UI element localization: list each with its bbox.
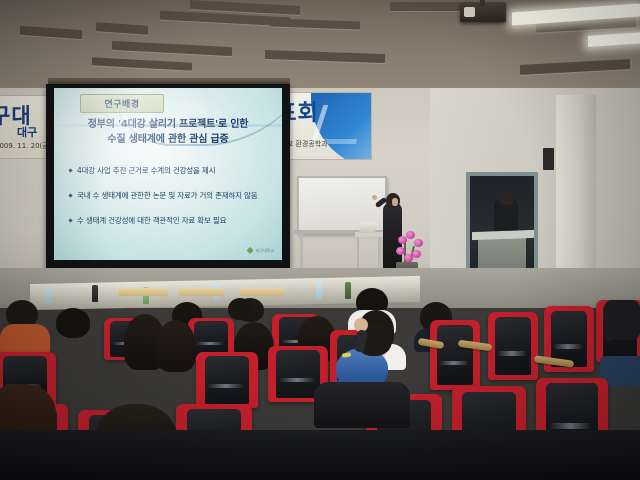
seat-highlight [553, 344, 583, 349]
seat-highlight [207, 384, 244, 388]
auditorium-seat[interactable] [488, 312, 538, 380]
water-bottle [316, 282, 322, 299]
orchid-bloom [404, 254, 413, 262]
audience-person [156, 320, 200, 378]
slide-title-line2: 수질 생태계에 관한 관심 급증 [62, 133, 274, 148]
ceiling-panel [265, 50, 385, 63]
projected-slide: 연구배경 정부의 '4대강 살리기 프로젝트'로 인한 수질 생태계에 관한 관… [54, 88, 282, 260]
slide-bullet-list: 4대강 사업 추진 근거로 수계의 건강성을 제시 국내 수 생태계에 관한한 … [68, 166, 276, 240]
orchid-bloom [412, 250, 421, 258]
person-head [156, 320, 196, 372]
projector-lens-icon [464, 7, 475, 17]
water-bottle [45, 286, 51, 303]
auditorium-seat[interactable] [430, 320, 480, 390]
seat-highlight [497, 351, 527, 356]
foreground-shadow [0, 430, 640, 480]
ceiling-panel [92, 57, 192, 70]
water-bottle [92, 285, 98, 302]
slide-title: 정부의 '4대강 살리기 프로젝트'로 인한 수질 생태계에 관한 관심 급증 [62, 118, 274, 147]
ceiling-panel [112, 41, 232, 56]
snack-tray [178, 288, 224, 296]
audience-person [228, 298, 254, 320]
water-bottle [345, 282, 351, 299]
presenter-face [392, 198, 398, 206]
moderator-head [499, 191, 514, 205]
audience-person [6, 300, 42, 340]
av-table-leg [357, 237, 359, 269]
person-shoulders [0, 324, 50, 354]
seat-pad [276, 350, 319, 398]
slide-bullet-3: 수 생태계 건강성에 대한 객관적인 자료 확보 필요 [68, 216, 276, 226]
audience-torso [604, 300, 640, 340]
slide-bullet-1: 4대강 사업 추진 근거로 수계의 건강성을 제시 [68, 166, 276, 176]
orchid-bloom [396, 247, 405, 255]
slide-bullet-2: 국내 수 생태계에 관한한 논문 및 자료가 거의 존재하지 않음 [68, 191, 276, 201]
orchid-bloom [398, 236, 407, 244]
wall-speaker [543, 148, 554, 170]
audience-person [56, 308, 94, 342]
seat-highlight [196, 342, 224, 345]
banner-swoosh-icon [311, 92, 372, 160]
ceiling-projector [460, 2, 506, 22]
seat-pad [495, 317, 531, 375]
slide-section-tab-label: 연구배경 [104, 97, 139, 110]
presenter-hand [372, 195, 377, 200]
ceiling-panel [390, 2, 460, 11]
snack-tray [240, 288, 284, 296]
snack-tray [118, 288, 168, 296]
seat-highlight [549, 423, 592, 428]
orchid-bloom [414, 239, 423, 247]
ceiling-panel [96, 22, 148, 35]
wall-column [556, 95, 596, 295]
projection-screen-frame: 연구배경 정부의 '4대강 살리기 프로젝트'로 인한 수질 생태계에 관한 관… [46, 84, 290, 272]
person-head [228, 298, 252, 320]
orchid-bloom [406, 231, 415, 239]
seat-highlight [439, 361, 469, 366]
seat-highlight [279, 378, 315, 382]
auditorium-seat[interactable] [196, 352, 258, 408]
projector-mount [480, 0, 485, 6]
ceiling-light-on [588, 32, 640, 47]
ceiling-panel [520, 59, 630, 75]
slide-section-tab: 연구배경 [80, 94, 164, 113]
slide-title-line1: 정부의 '4대강 살리기 프로젝트'로 인한 [88, 119, 249, 130]
seat-pad [205, 356, 250, 404]
lecture-hall-photo: 구대 대구 2009. 11. 20(금) 발표회 표회 대구대학교 환경공학과… [0, 0, 640, 480]
ceiling-panel [270, 18, 360, 29]
slide-footer-logo: 대구대학교 [247, 247, 274, 254]
ceiling-panel [20, 26, 82, 39]
slide-logo-text: 대구대학교 [256, 248, 274, 254]
banner-left-mid-text: 대구 [17, 124, 37, 140]
university-logo-icon [247, 247, 254, 254]
laptop [359, 222, 377, 233]
person-head [56, 308, 90, 338]
person-shoulders [314, 382, 410, 428]
banner-left-date: 2009. 11. 20(금) [0, 141, 51, 151]
seat-pad [437, 325, 473, 385]
cap-logo-icon [342, 352, 351, 357]
